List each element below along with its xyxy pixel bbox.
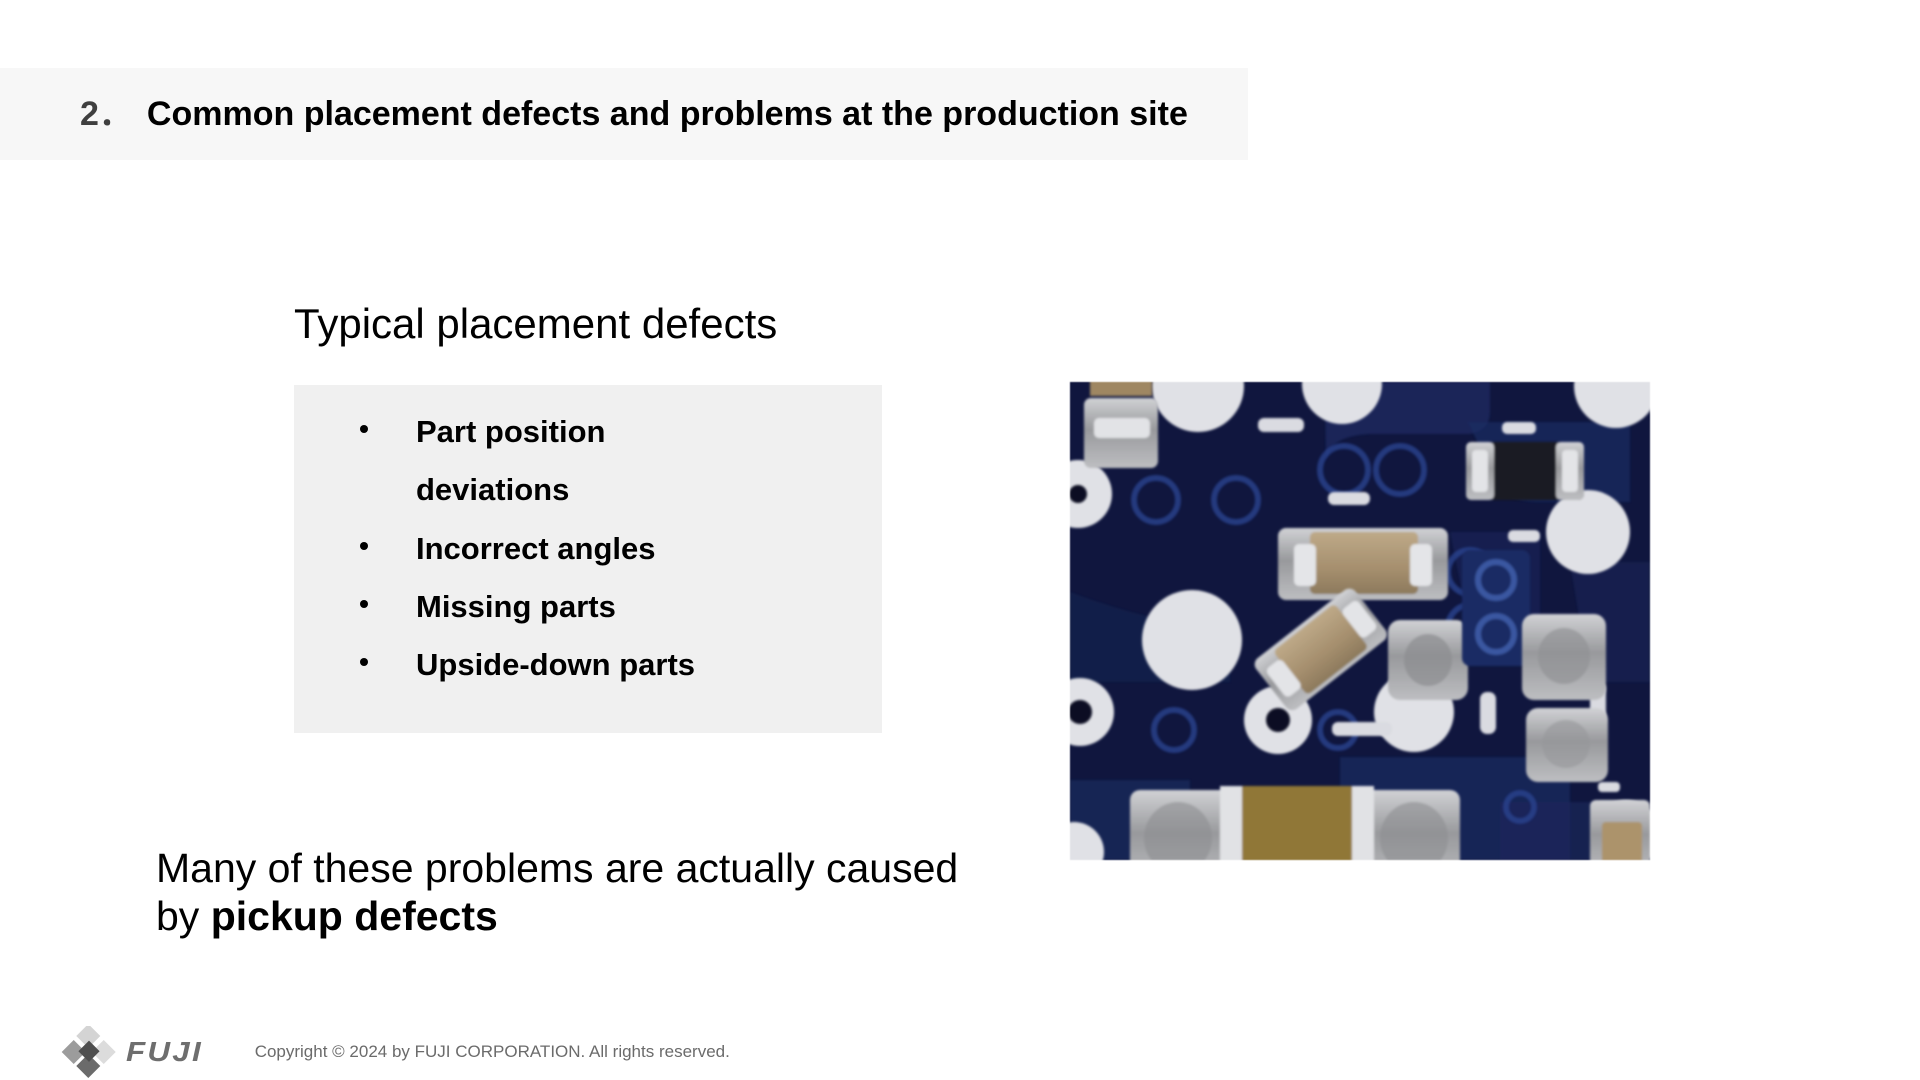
defect-label: Upside-down parts bbox=[416, 636, 695, 694]
copyright-notice: Copyright © 2024 by FUJI CORPORATION. Al… bbox=[255, 1042, 730, 1062]
list-item: Upside-down parts bbox=[294, 636, 882, 694]
slide-title-text: Common placement defects and problems at… bbox=[147, 97, 1188, 131]
bullet-dot-icon bbox=[360, 425, 368, 433]
list-item: Part position deviations bbox=[294, 403, 882, 520]
defect-label: Part position deviations bbox=[416, 403, 746, 520]
closing-statement-emphasis: pickup defects bbox=[211, 893, 498, 939]
bullet-dot-icon bbox=[360, 658, 368, 666]
closing-statement: Many of these problems are actually caus… bbox=[156, 845, 976, 941]
slide-title-number: 2． bbox=[80, 97, 133, 131]
pcb-placement-defect-photo bbox=[1070, 382, 1650, 860]
fuji-diamond-mark-icon bbox=[60, 1026, 118, 1078]
fuji-wordmark: FUJI bbox=[126, 1038, 203, 1066]
defect-label: Incorrect angles bbox=[416, 520, 655, 578]
bullet-dot-icon bbox=[360, 600, 368, 608]
defect-list-panel: Part position deviations Incorrect angle… bbox=[294, 385, 882, 733]
page-subheading: Typical placement defects bbox=[294, 300, 777, 348]
bullet-dot-icon bbox=[360, 542, 368, 550]
fuji-logo: FUJI bbox=[60, 1026, 195, 1078]
slide-footer: FUJI Copyright © 2024 by FUJI CORPORATIO… bbox=[60, 1026, 730, 1078]
slide-title-band: 2． Common placement defects and problems… bbox=[0, 68, 1248, 160]
defect-label: Missing parts bbox=[416, 578, 616, 636]
list-item: Missing parts bbox=[294, 578, 882, 636]
list-item: Incorrect angles bbox=[294, 520, 882, 578]
